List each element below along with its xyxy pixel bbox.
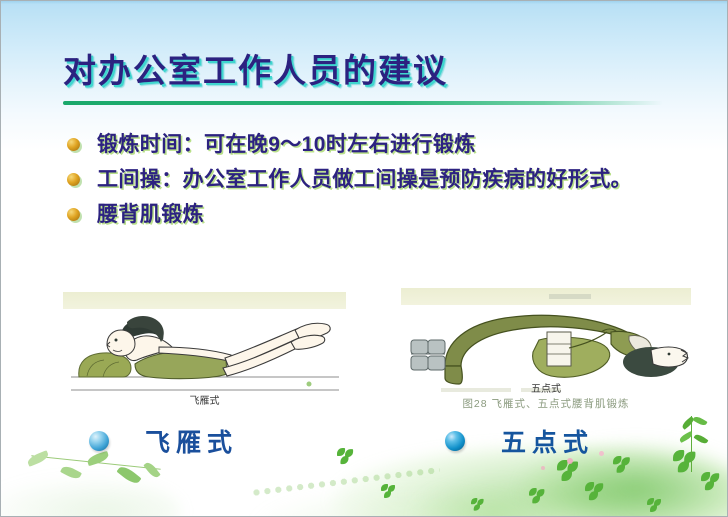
gold-sphere-bullet-icon — [67, 173, 80, 186]
caption-right-label: 五点式 — [501, 423, 594, 459]
list-item-label: 腰背肌锻炼 — [97, 199, 204, 230]
title-underline-rule — [63, 101, 663, 105]
page-title: 对办公室工作人员的建议 — [63, 54, 448, 87]
blue-sphere-bullet-icon — [89, 431, 109, 451]
list-item-label: 锻炼时间：可在晚9～10时左右进行锻炼 — [97, 129, 476, 160]
dot-trail — [250, 465, 441, 510]
grass-sprig-right — [675, 416, 715, 476]
list-item: 工间操：办公室工作人员做工间操是预防疾病的好形式。 — [63, 164, 693, 195]
gold-sphere-bullet-icon — [67, 138, 80, 151]
figure-right-inner-caption: 五点式 — [401, 380, 691, 395]
list-item: 锻炼时间：可在晚9～10时左右进行锻炼 — [63, 129, 693, 160]
caption-right: 五点式 — [445, 423, 594, 459]
list-item: 腰背肌锻炼 — [63, 199, 693, 230]
figure-right-note: 图28 飞雁式、五点式腰背肌锻炼 — [401, 396, 691, 411]
watercolor-wash — [251, 486, 551, 516]
slide-canvas: 对办公室工作人员的建议 锻炼时间：可在晚9～10时左右进行锻炼 工间操：办公室工… — [0, 0, 728, 517]
watercolor-wash — [1, 476, 181, 516]
sky-top-edge — [1, 1, 728, 4]
blossom-icon — [541, 466, 545, 470]
caption-left-label: 飞雁式 — [145, 423, 238, 459]
blue-sphere-bullet-icon — [445, 431, 465, 451]
figure-left: 飞雁式 — [63, 292, 346, 412]
watercolor-wash — [411, 480, 571, 516]
caption-left: 飞雁式 — [89, 423, 238, 459]
gold-sphere-bullet-icon — [67, 208, 80, 221]
figure-right: 五点式 图28 飞雁式、五点式腰背肌锻炼 — [401, 288, 691, 414]
bullet-list: 锻炼时间：可在晚9～10时左右进行锻炼 工间操：办公室工作人员做工间操是预防疾病… — [63, 129, 693, 234]
page-title-text: 对办公室工作人员的建议 — [63, 54, 448, 87]
list-item-label: 工间操：办公室工作人员做工间操是预防疾病的好形式。 — [97, 164, 632, 195]
blossom-icon — [599, 451, 604, 456]
figure-left-inner-caption: 飞雁式 — [63, 392, 346, 407]
